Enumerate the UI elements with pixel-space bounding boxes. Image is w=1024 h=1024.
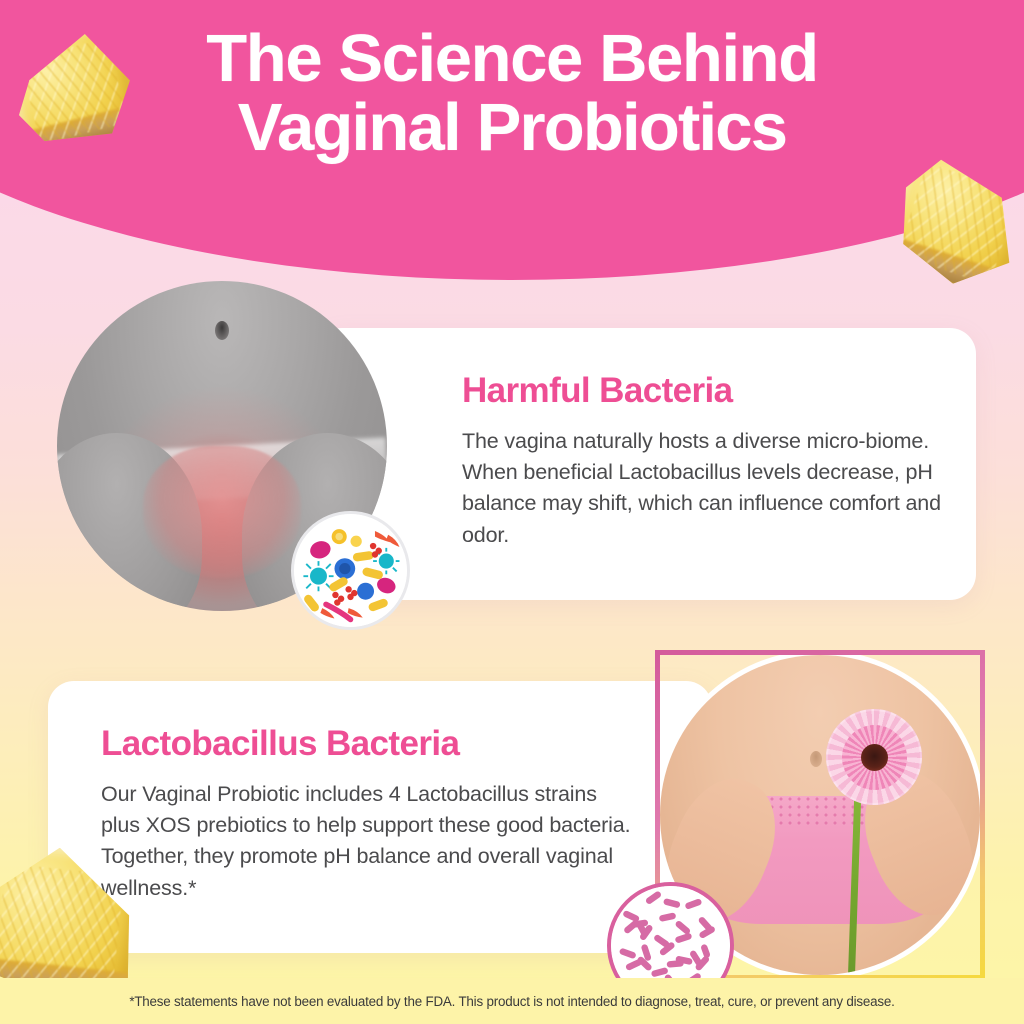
harmful-bacteria-title: Harmful Bacteria [462, 372, 962, 411]
page-title-line-2: Vaginal Probiotics [0, 93, 1024, 162]
gerbera-flower-icon [826, 709, 922, 805]
fda-disclaimer-text: *These statements have not been evaluate… [129, 994, 894, 1009]
page-title: The Science Behind Vaginal Probiotics [0, 0, 1024, 162]
lactobacillus-bacteria-card: Lactobacillus Bacteria Our Vaginal Probi… [48, 681, 712, 953]
hands-over-abdomen [143, 446, 301, 578]
footer-disclaimer-bar: *These statements have not been evaluate… [0, 978, 1024, 1024]
page-title-line-1: The Science Behind [0, 24, 1024, 93]
lactobacillus-bacteria-title: Lactobacillus Bacteria [101, 725, 631, 764]
lactobacillus-bacteria-body: Our Vaginal Probiotic includes 4 Lactoba… [101, 779, 631, 905]
harmful-bacteria-card: Harmful Bacteria The vagina naturally ho… [316, 328, 976, 600]
harmful-microbes-badge [291, 511, 410, 630]
harmful-bacteria-body: The vagina naturally hosts a diverse mic… [462, 426, 962, 552]
harmful-microbes-illustration [294, 514, 407, 627]
navel [215, 321, 229, 340]
